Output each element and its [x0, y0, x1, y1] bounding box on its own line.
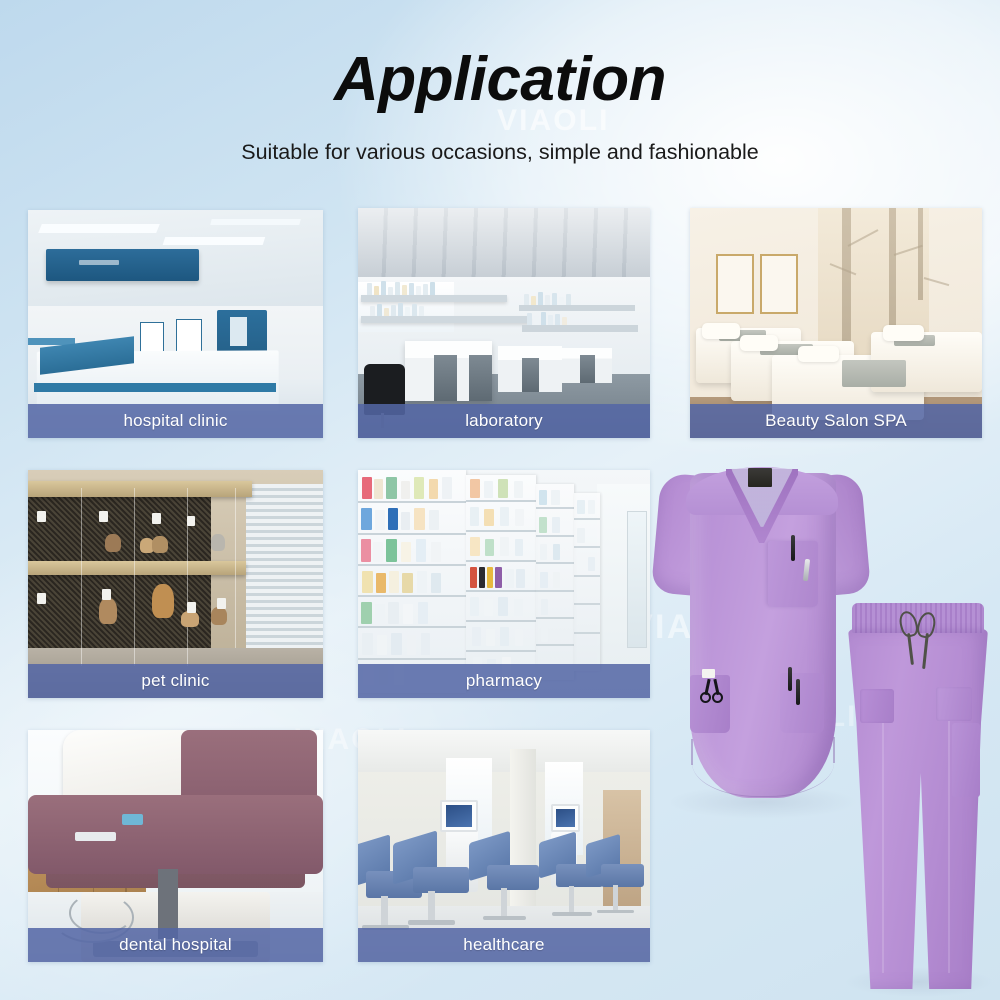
tile-caption: laboratory	[358, 404, 650, 438]
tile-pet-clinic[interactable]: pet clinic	[28, 470, 323, 698]
scrub-top[interactable]	[656, 463, 866, 803]
pen-icon	[796, 679, 800, 705]
tile-hospital-clinic[interactable]: hospital clinic	[28, 210, 323, 438]
page-subtitle: Suitable for various occasions, simple a…	[0, 140, 1000, 165]
drawstring	[900, 611, 940, 667]
brand-label	[748, 468, 772, 487]
tile-caption: hospital clinic	[28, 404, 323, 438]
pen-icon	[788, 667, 792, 691]
tile-caption: healthcare	[358, 928, 650, 962]
care-tag	[702, 669, 715, 678]
pants-pocket-left	[860, 689, 894, 723]
scrub-pants[interactable]	[844, 603, 994, 993]
cargo-pocket	[952, 723, 980, 797]
tile-pharmacy[interactable]: pharmacy	[358, 470, 650, 698]
tile-healthcare[interactable]: healthcare	[358, 730, 650, 962]
hem	[692, 763, 834, 797]
pen-icon	[791, 535, 795, 561]
tile-laboratory[interactable]: laboratory	[358, 208, 650, 438]
tile-caption: pet clinic	[28, 664, 323, 698]
tile-dental-hospital[interactable]: dental hospital	[28, 730, 323, 962]
side-slit-right	[833, 737, 835, 763]
scissors-icon	[700, 679, 726, 705]
page-title: Application	[0, 44, 1000, 115]
pants-pocket-right	[936, 687, 972, 721]
tile-caption: Beauty Salon SPA	[690, 404, 982, 438]
product-scrub-uniform-set[interactable]	[648, 455, 1000, 1000]
tile-caption: dental hospital	[28, 928, 323, 962]
tile-caption: pharmacy	[358, 664, 650, 698]
tile-beauty-salon-spa[interactable]: Beauty Salon SPA	[690, 208, 982, 438]
side-slit-left	[691, 739, 693, 765]
pants-body	[848, 629, 988, 989]
side-pocket-right	[780, 673, 824, 733]
